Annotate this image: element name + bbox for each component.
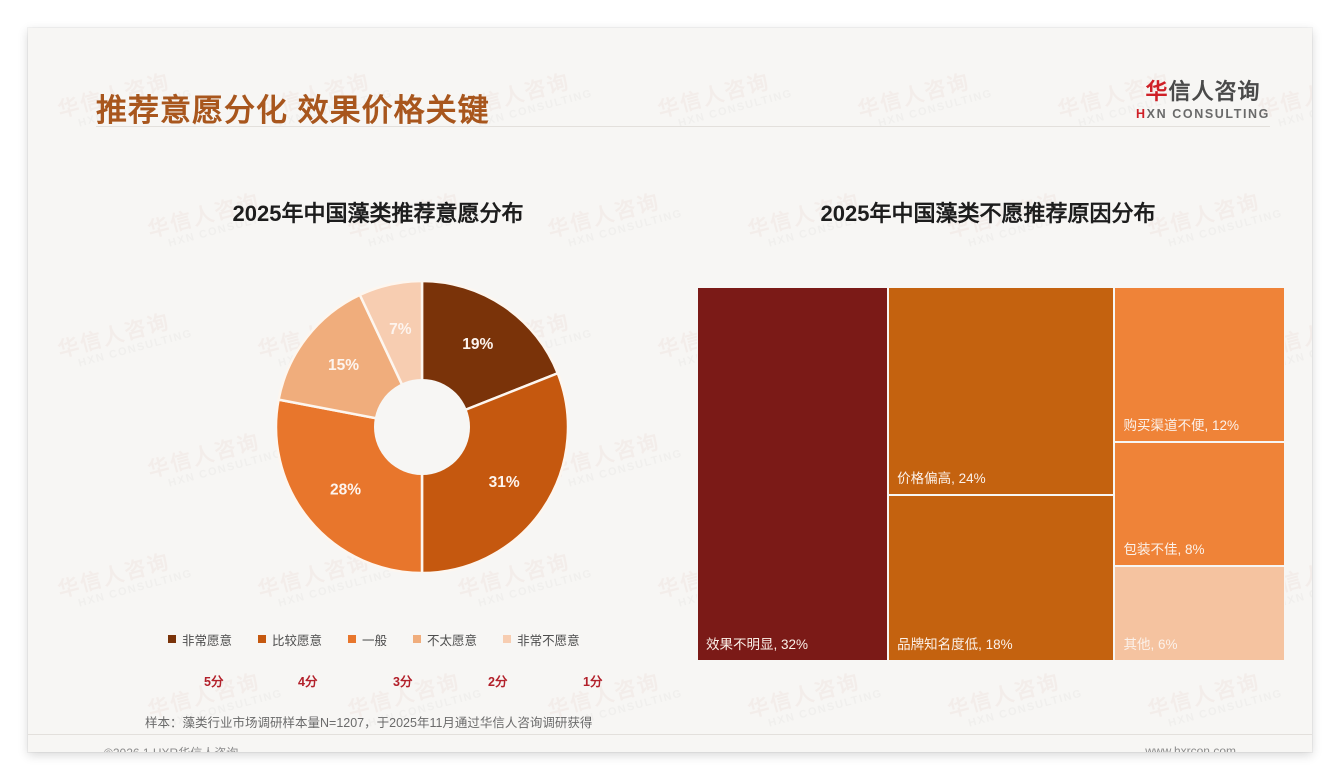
- watermark-mark: 华信人咨询HXN CONSULTING: [1146, 666, 1284, 733]
- watermark-mark: 华信人咨询HXN CONSULTING: [146, 426, 284, 493]
- treemap-cell[interactable]: 效果不明显, 32%: [697, 287, 888, 661]
- donut-chart: 19%31%28%15%7%: [276, 281, 568, 573]
- legend-swatch-icon: [348, 635, 356, 643]
- slide: 华信人咨询HXN CONSULTING华信人咨询HXN CONSULTING华信…: [28, 28, 1312, 752]
- score-label: 4分: [298, 671, 317, 690]
- treemap-cell[interactable]: 包装不佳, 8%: [1114, 442, 1285, 565]
- legend-label: 比较愿意: [272, 630, 322, 649]
- logo-english: HXN CONSULTING: [1136, 107, 1270, 121]
- legend-label: 不太愿意: [427, 630, 477, 649]
- donut-slice-label: 15%: [328, 357, 359, 374]
- donut-hole: [374, 379, 470, 475]
- legend-swatch-icon: [258, 635, 266, 643]
- legend-item[interactable]: 不太愿意: [413, 630, 477, 649]
- watermark-mark: 华信人咨询HXN CONSULTING: [56, 546, 194, 613]
- page-title: 推荐意愿分化 效果价格关键: [96, 85, 490, 130]
- score-label: 2分: [488, 671, 507, 690]
- logo-chinese: 华信人咨询: [1136, 80, 1270, 104]
- treemap-cell-label: 购买渠道不便, 12%: [1123, 414, 1239, 434]
- donut-legend: 非常愿意比较愿意一般不太愿意非常不愿意: [168, 628, 688, 650]
- score-label: 1分: [583, 671, 602, 690]
- donut-slice-label: 28%: [330, 481, 361, 498]
- treemap-cell-label: 包装不佳, 8%: [1123, 538, 1204, 558]
- legend-label: 非常愿意: [182, 630, 232, 649]
- treemap-cell[interactable]: 购买渠道不便, 12%: [1114, 287, 1285, 442]
- treemap-cell-label: 品牌知名度低, 18%: [897, 633, 1013, 653]
- logo-english-accent: H: [1136, 107, 1147, 121]
- legend-item[interactable]: 非常不愿意: [503, 630, 580, 649]
- logo-chinese-accent: 华: [1145, 79, 1168, 104]
- footer-divider: [28, 734, 1312, 735]
- legend-swatch-icon: [503, 635, 511, 643]
- legend-label: 一般: [362, 630, 387, 649]
- treemap-cell-label: 效果不明显, 32%: [706, 633, 808, 653]
- watermark-mark: 华信人咨询HXN CONSULTING: [56, 306, 194, 373]
- treemap-cell-label: 价格偏高, 24%: [897, 467, 986, 487]
- watermark-mark: 华信人咨询HXN CONSULTING: [946, 666, 1084, 733]
- legend-swatch-icon: [168, 635, 176, 643]
- treemap-cell[interactable]: 其他, 6%: [1114, 566, 1285, 661]
- watermark-mark: 华信人咨询HXN CONSULTING: [746, 666, 884, 733]
- logo-english-rest: XN CONSULTING: [1147, 107, 1270, 121]
- legend-item[interactable]: 比较愿意: [258, 630, 322, 649]
- legend-label: 非常不愿意: [517, 630, 580, 649]
- treemap-cell[interactable]: 品牌知名度低, 18%: [888, 495, 1114, 661]
- legend-item[interactable]: 非常愿意: [168, 630, 232, 649]
- logo-chinese-rest: 信人咨询: [1169, 79, 1261, 104]
- score-label: 5分: [204, 671, 223, 690]
- legend-item[interactable]: 一般: [348, 630, 387, 649]
- score-label: 3分: [393, 671, 412, 690]
- sample-note: 样本：藻类行业市场调研样本量N=1207，于2025年11月通过华信人咨询调研获…: [145, 712, 592, 731]
- slide-header: 推荐意愿分化 效果价格关键 华信人咨询 HXN CONSULTING: [28, 28, 1312, 126]
- footer-copyright: ©2026.1 HXR华信人咨询: [104, 744, 238, 752]
- legend-swatch-icon: [413, 635, 421, 643]
- donut-slice-label: 31%: [489, 474, 520, 491]
- treemap-cell[interactable]: 价格偏高, 24%: [888, 287, 1114, 495]
- treemap-cell-label: 其他, 6%: [1123, 633, 1177, 653]
- donut-slice-label: 7%: [389, 321, 412, 338]
- header-divider: [96, 126, 1270, 127]
- brand-logo: 华信人咨询 HXN CONSULTING: [1136, 80, 1270, 121]
- score-label-row: 5分4分3分2分1分: [168, 671, 688, 691]
- treemap-chart-title: 2025年中国藻类不愿推荐原因分布: [688, 196, 1288, 228]
- donut-svg: 19%31%28%15%7%: [276, 281, 568, 573]
- donut-chart-title: 2025年中国藻类推荐意愿分布: [88, 196, 668, 228]
- treemap-chart: 效果不明显, 32%价格偏高, 24%品牌知名度低, 18%购买渠道不便, 12…: [697, 287, 1285, 661]
- footer-website: www.hxrcon.com: [1145, 744, 1236, 752]
- donut-slice-label: 19%: [462, 336, 493, 353]
